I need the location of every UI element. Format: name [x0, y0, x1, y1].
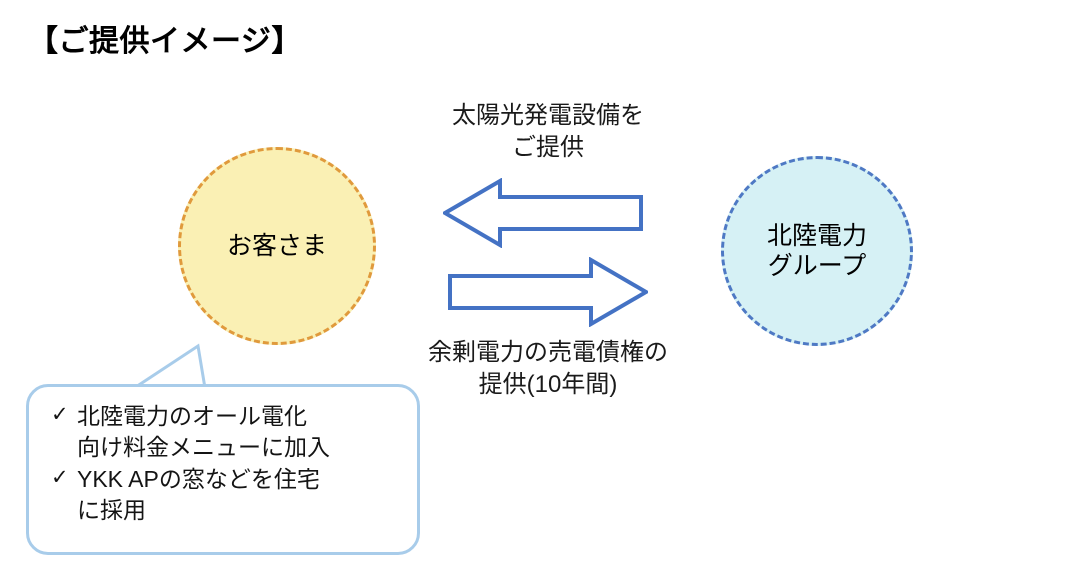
callout-item-text: 北陸電力のオール電化 向け料金メニューに加入 [77, 401, 407, 462]
check-icon: ✓ [51, 464, 77, 492]
arrow-caption-surplus-power: 余剰電力の売電債権の 提供(10年間) [388, 337, 708, 401]
callout-list: ✓ 北陸電力のオール電化 向け料金メニューに加入 ✓ YKK APの窓などを住宅… [29, 387, 417, 525]
arrow-customer-to-utility-icon [448, 257, 648, 327]
callout-list-item: ✓ YKK APの窓などを住宅 に採用 [51, 464, 407, 525]
arrow-caption-supply-equipment: 太陽光発電設備を ご提供 [398, 100, 698, 164]
node-customer-label: お客さま [227, 231, 327, 262]
callout-box-customer-conditions: ✓ 北陸電力のオール電化 向け料金メニューに加入 ✓ YKK APの窓などを住宅… [26, 384, 420, 555]
page-title: 【ご提供イメージ】 [28, 16, 302, 60]
slide-canvas: 【ご提供イメージ】 お客さま 北陸電力 グループ 太陽光発電設備を ご提供 余剰… [0, 0, 1090, 571]
arrow-utility-to-customer-icon [443, 178, 643, 248]
check-icon: ✓ [51, 401, 77, 429]
node-utility-label: 北陸電力 グループ [767, 221, 867, 282]
node-customer-circle: お客さま [178, 147, 376, 345]
node-utility-circle: 北陸電力 グループ [721, 156, 913, 346]
callout-list-item: ✓ 北陸電力のオール電化 向け料金メニューに加入 [51, 401, 407, 462]
callout-item-text: YKK APの窓などを住宅 に採用 [77, 464, 407, 525]
